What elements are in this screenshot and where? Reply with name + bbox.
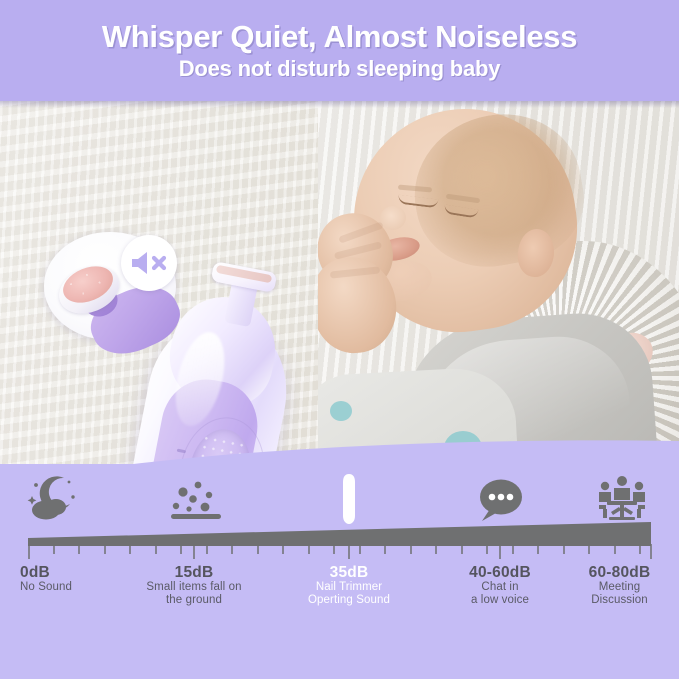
scale-label-low-voice: 40-60dB Chat in a low voice bbox=[432, 564, 568, 607]
onesie-motif bbox=[444, 431, 482, 465]
scale-label-meeting: 60-80dB Meeting Discussion bbox=[566, 564, 679, 607]
page-title: Whisper Quiet, Almost Noiseless bbox=[102, 21, 577, 54]
speaker-mute-icon bbox=[129, 248, 169, 278]
nail-trimmer-icon bbox=[339, 474, 359, 524]
speaker-mute-badge bbox=[121, 235, 177, 291]
header-banner: Whisper Quiet, Almost Noiseless Does not… bbox=[0, 0, 679, 101]
product-feature-image: Whisper Quiet, Almost Noiseless Does not… bbox=[0, 0, 679, 679]
meeting-people-icon bbox=[597, 474, 647, 524]
closeup-inset bbox=[44, 232, 183, 344]
decibel-scale: 0dB No Sound 15dB Small items fall on th… bbox=[0, 464, 679, 679]
falling-particles-icon bbox=[167, 476, 225, 524]
onesie-motif bbox=[330, 401, 352, 421]
scale-label-small-items: 15dB Small items fall on the ground bbox=[118, 564, 270, 607]
scale-icons bbox=[0, 464, 679, 526]
ruler-ticks bbox=[0, 544, 679, 560]
moon-cloud-icon bbox=[26, 472, 80, 524]
scale-label-nail-trimmer: 35dB Nail Trimmer Operting Sound bbox=[278, 564, 420, 607]
page-subtitle: Does not disturb sleeping baby bbox=[179, 57, 501, 80]
speech-bubble-icon bbox=[474, 476, 526, 524]
loudness-wedge-bar bbox=[0, 522, 679, 546]
